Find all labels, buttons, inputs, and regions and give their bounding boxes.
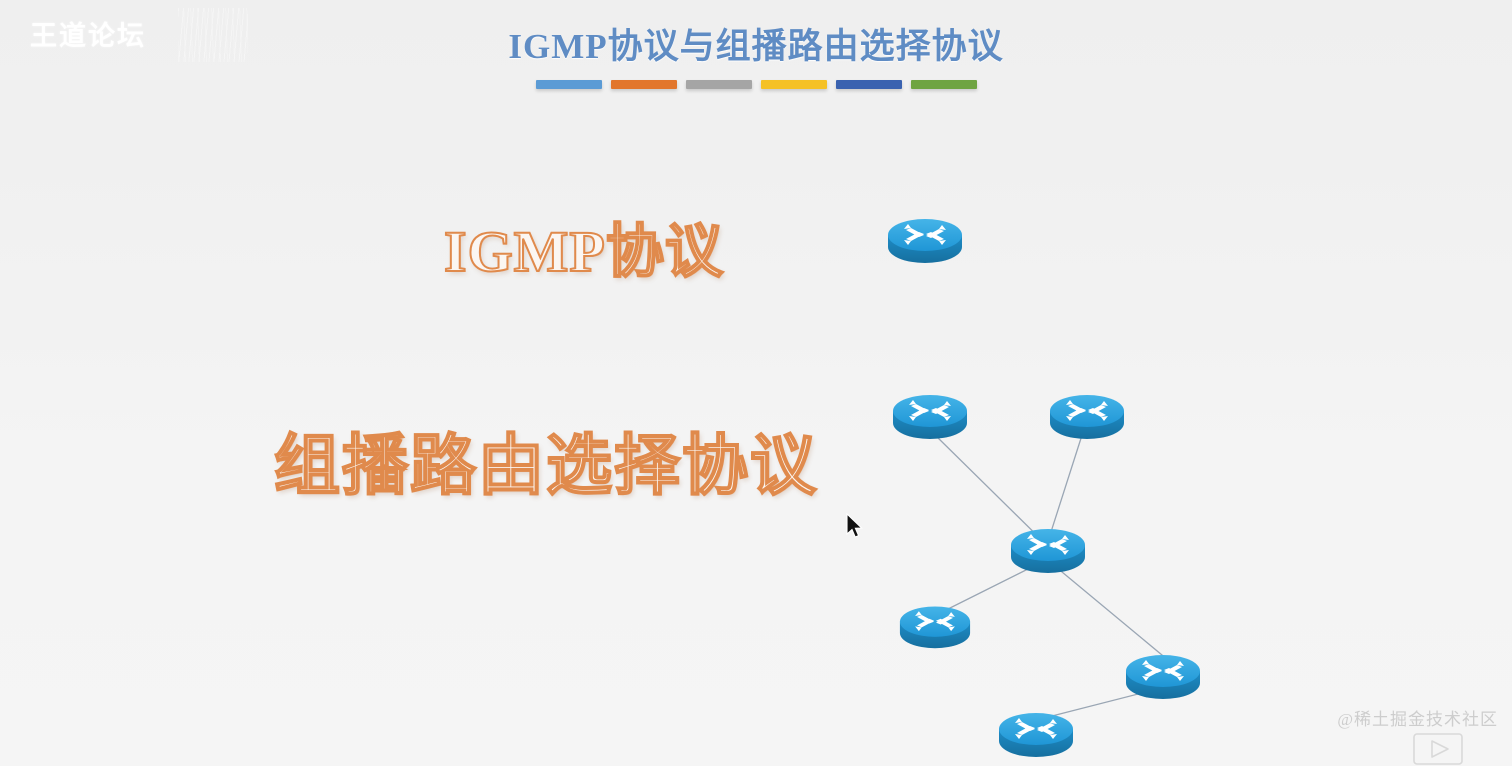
router-lower-left <box>898 597 972 652</box>
router-igmp-icon <box>886 209 964 267</box>
title-accent-bars <box>0 80 1512 89</box>
router-bottom <box>997 703 1075 761</box>
bar-orange <box>611 80 677 89</box>
play-button-logo-icon <box>1412 732 1464 766</box>
heading-igmp-protocol: IGMP协议 <box>444 204 724 288</box>
presentation-slide: 王道论坛 IGMP协议与组播路由选择协议 IGMP协议 组播路由选择协议 <box>0 0 1512 766</box>
bar-gray <box>686 80 752 89</box>
juejin-watermark: @稀土掘金技术社区 <box>1337 705 1498 730</box>
router-center <box>1009 519 1087 577</box>
bar-yellow <box>761 80 827 89</box>
router-top-right <box>1048 385 1126 443</box>
page-title: IGMP协议与组播路由选择协议 <box>0 18 1512 69</box>
mouse-pointer-icon <box>845 513 865 541</box>
bar-green <box>911 80 977 89</box>
heading-multicast-routing-protocol: 组播路由选择协议 <box>274 412 818 508</box>
bar-blue-light <box>536 80 602 89</box>
router-top-left <box>891 385 969 443</box>
topology-links <box>0 0 1512 766</box>
router-lower-right <box>1124 645 1202 703</box>
bar-blue-dark <box>836 80 902 89</box>
